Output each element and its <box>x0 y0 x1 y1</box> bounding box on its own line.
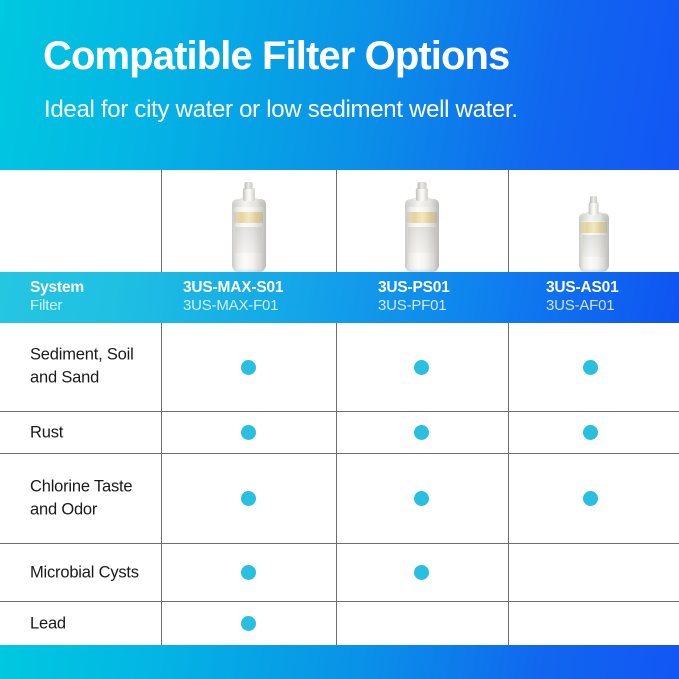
compatibility-dot <box>414 565 429 580</box>
table-row: Microbial Cysts <box>0 544 679 602</box>
compatibility-dot <box>583 425 598 440</box>
cartridge-cap <box>244 182 253 189</box>
cartridge-neck <box>416 188 428 201</box>
compatibility-dot <box>241 565 256 580</box>
column-divider-2-bottom <box>336 323 337 645</box>
row-label: Rust <box>30 421 155 444</box>
filter-model-3: 3US-AF01 <box>546 297 679 316</box>
page-title: Compatible Filter Options <box>43 35 509 77</box>
compatibility-dot <box>414 360 429 375</box>
page-subtitle: Ideal for city water or low sediment wel… <box>44 97 518 123</box>
filter-model-2: 3US-PF01 <box>378 297 508 316</box>
cartridge-label-band <box>407 212 437 223</box>
system-label: System <box>30 278 161 297</box>
compatibility-dot <box>241 425 256 440</box>
cartridge-neck <box>242 188 254 201</box>
cartridge-neck <box>588 202 599 215</box>
table-row: Sediment, Soil and Sand <box>0 323 679 412</box>
row-label: Microbial Cysts <box>30 561 155 584</box>
compatibility-dot <box>241 491 256 506</box>
column-divider-1-bottom <box>161 323 162 645</box>
footer-banner <box>0 645 679 679</box>
column-divider-3-top <box>508 170 509 272</box>
table-header-corner: System Filter <box>0 272 161 323</box>
column-divider-1-top <box>161 170 162 272</box>
table-header-row: System Filter 3US-MAX-S01 3US-MAX-F01 3U… <box>0 272 679 323</box>
product-image-cell-1 <box>161 170 336 272</box>
filter-label: Filter <box>30 297 161 316</box>
compatibility-dot <box>414 425 429 440</box>
product-image-cell-3 <box>508 170 679 272</box>
table-header-column-3[interactable]: 3US-AS01 3US-AF01 <box>508 272 679 323</box>
system-model-2: 3US-PS01 <box>378 278 508 297</box>
product-image-cell-2 <box>336 170 508 272</box>
water-filter-cartridge-icon <box>579 196 609 272</box>
table-header-column-1[interactable]: 3US-MAX-S01 3US-MAX-F01 <box>161 272 336 323</box>
row-label: Lead <box>30 612 155 635</box>
cartridge-text-band <box>408 227 435 253</box>
compatibility-table: System Filter 3US-MAX-S01 3US-MAX-F01 3U… <box>0 170 679 645</box>
system-model-3: 3US-AS01 <box>546 278 679 297</box>
system-model-1: 3US-MAX-S01 <box>183 278 336 297</box>
water-filter-cartridge-icon <box>405 182 439 272</box>
table-row: Lead <box>0 602 679 645</box>
table-header-column-2[interactable]: 3US-PS01 3US-PF01 <box>336 272 508 323</box>
cartridge-text-band <box>582 235 606 257</box>
cartridge-cap <box>590 196 598 203</box>
product-image-row <box>0 170 679 272</box>
compatible-filter-options-page: Compatible Filter Options Ideal for city… <box>0 0 679 679</box>
filter-model-1: 3US-MAX-F01 <box>183 297 336 316</box>
compatibility-dot <box>241 360 256 375</box>
compatibility-dot <box>241 616 256 631</box>
cartridge-text-band <box>235 227 262 253</box>
compatibility-dot <box>583 491 598 506</box>
header-banner: Compatible Filter Options Ideal for city… <box>0 0 679 170</box>
cartridge-label-band <box>234 212 264 223</box>
table-body: Sediment, Soil and Sand Rust Chlorine Ta… <box>0 323 679 645</box>
compatibility-dot <box>414 491 429 506</box>
column-divider-2-top <box>336 170 337 272</box>
compatibility-dot <box>583 360 598 375</box>
row-label: Sediment, Soil and Sand <box>30 344 155 391</box>
row-label: Chlorine Taste and Odor <box>30 475 155 522</box>
water-filter-cartridge-icon <box>232 182 266 272</box>
table-row: Chlorine Taste and Odor <box>0 454 679 544</box>
table-row: Rust <box>0 412 679 454</box>
column-divider-3-bottom <box>508 323 509 645</box>
cartridge-cap <box>418 182 427 189</box>
cartridge-label-band <box>580 222 606 233</box>
